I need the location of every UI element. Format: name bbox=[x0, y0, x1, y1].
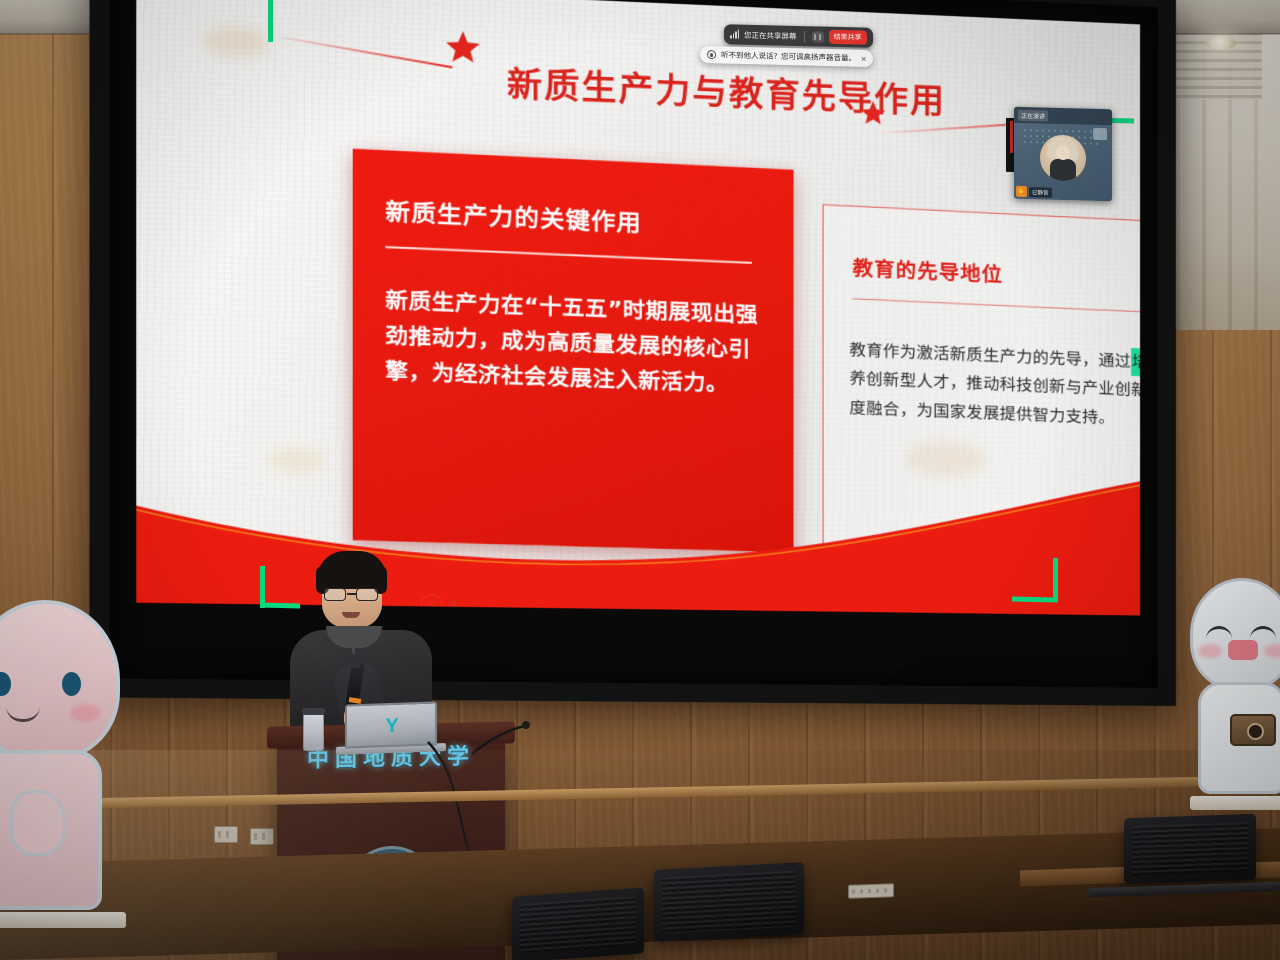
mascot-cheek-left bbox=[1198, 644, 1222, 658]
participant-name-label: 正在演讲 bbox=[1018, 109, 1048, 121]
stop-share-button[interactable]: 结束共享 bbox=[829, 30, 867, 45]
mascot-eye-right bbox=[62, 672, 81, 696]
mascot-base bbox=[1190, 796, 1280, 810]
mascot-mouth bbox=[1228, 640, 1258, 660]
right-card-divider bbox=[853, 298, 1141, 313]
pause-share-button[interactable]: ❙❙ bbox=[812, 31, 824, 42]
hand-icon[interactable]: ✋ bbox=[1016, 186, 1027, 197]
left-card-body: 新质生产力在“十五五”时期展现出强劲推动力，成为高质量发展的核心引擎，为经济社会… bbox=[385, 283, 762, 403]
microphone-head bbox=[346, 654, 362, 668]
glasses-bridge bbox=[347, 593, 356, 595]
right-card-body-part1: 教育作为激活新质生产力的先导，通过 bbox=[849, 340, 1131, 371]
close-icon[interactable]: × bbox=[861, 53, 866, 63]
drinking-cup bbox=[303, 713, 324, 751]
glasses-right-lens bbox=[356, 588, 378, 601]
text-cursor-highlight: 培 bbox=[1131, 348, 1140, 377]
cup-lid bbox=[302, 708, 325, 715]
mascot-cheek bbox=[70, 704, 100, 722]
left-mascot-standee bbox=[0, 600, 150, 950]
avatar bbox=[1040, 134, 1086, 181]
signal-bars-icon bbox=[730, 30, 739, 38]
right-card-body: 教育作为激活新质生产力的先导，通过培养创新型人才，推动科技创新与产业创新深度融合… bbox=[849, 336, 1140, 435]
ceiling-light-2 bbox=[1206, 36, 1236, 50]
mascot-head bbox=[0, 600, 120, 760]
right-card-body-part2: 养创新型人才，推动科技创新与产业创新深度融合，为国家发展提供智力支持。 bbox=[849, 369, 1140, 428]
glasses-left-lens bbox=[324, 588, 346, 601]
stage-monitor-1 bbox=[512, 887, 644, 960]
left-card-heading: 新质生产力的关键作用 bbox=[385, 192, 746, 243]
right-mascot-standee bbox=[1190, 578, 1280, 838]
red-star-icon-left bbox=[445, 29, 482, 66]
right-card-heading: 教育的先导地位 bbox=[853, 251, 1003, 287]
mascot-base bbox=[0, 912, 126, 928]
audio-tip-message: 听不到他人说话？您可调高扬声器音量。 bbox=[721, 49, 856, 63]
stage-monitor-2 bbox=[654, 862, 804, 942]
video-tile-footer: ✋ 已静音 bbox=[1016, 186, 1052, 198]
participant-video-tile[interactable]: 正在演讲 ✋ 已静音 bbox=[1014, 107, 1112, 202]
mascot-hand bbox=[10, 790, 66, 856]
camera-icon bbox=[1230, 714, 1276, 746]
toolbar-divider bbox=[804, 31, 805, 42]
mic-icon bbox=[707, 50, 716, 59]
avatar-body bbox=[1050, 159, 1076, 182]
screen-share-status-bar[interactable]: 您正在共享屏幕 ❙❙ 结束共享 bbox=[724, 24, 873, 48]
floor-socket bbox=[848, 883, 894, 899]
avatar-face bbox=[1056, 145, 1070, 160]
laptop-logo-icon: Y bbox=[381, 715, 403, 738]
mute-status-tag: 已静音 bbox=[1029, 187, 1052, 198]
video-tile-header: 正在演讲 bbox=[1014, 107, 1112, 126]
left-card-divider bbox=[385, 246, 752, 264]
share-status-label: 您正在共享屏幕 bbox=[744, 29, 797, 41]
slide-watermark-label: 调 bbox=[447, 596, 458, 612]
screenshot-root: 新质生产力与教育先导作用 新质生产力的关键作用 新质生产力在“十五五”时期展现出… bbox=[0, 0, 1280, 960]
slide-surface: 新质生产力与教育先导作用 新质生产力的关键作用 新质生产力在“十五五”时期展现出… bbox=[136, 0, 1140, 616]
